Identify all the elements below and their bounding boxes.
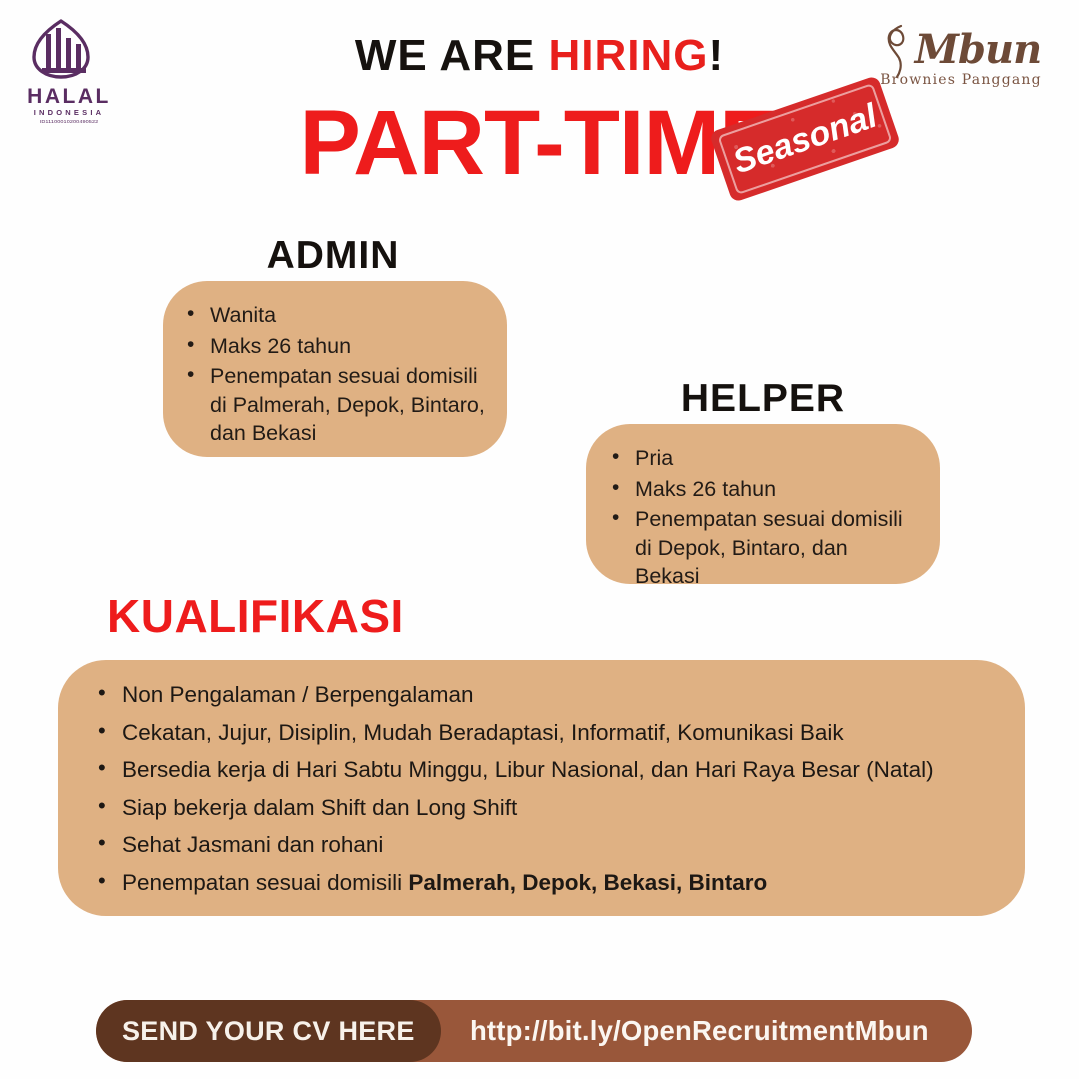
helper-title: HELPER (586, 379, 940, 418)
exclamation-mark: ! (708, 31, 724, 80)
qualifications-list: Non Pengalaman / Berpengalaman Cekatan, … (92, 684, 991, 894)
list-item: Siap bekerja dalam Shift dan Long Shift (92, 797, 991, 820)
admin-requirements-list: Wanita Maks 26 tahun Penempatan sesuai d… (183, 301, 485, 448)
part-time-heading: PART-TIME (0, 95, 1079, 192)
list-item: Penempatan sesuai domisili di Depok, Bin… (608, 505, 918, 591)
list-item: Wanita (183, 301, 485, 330)
we-are-text: WE ARE (355, 31, 549, 80)
send-cv-cta-bar[interactable]: SEND YOUR CV HERE http://bit.ly/OpenRecr… (96, 1000, 972, 1062)
list-item: Pria (608, 444, 918, 473)
helper-requirements-list: Pria Maks 26 tahun Penempatan sesuai dom… (608, 444, 918, 591)
admin-requirements-box: Wanita Maks 26 tahun Penempatan sesuai d… (163, 281, 507, 457)
helper-requirements-box: Pria Maks 26 tahun Penempatan sesuai dom… (586, 424, 940, 584)
list-item: Sehat Jasmani dan rohani (92, 834, 991, 857)
admin-title: ADMIN (163, 236, 503, 275)
send-cv-label: SEND YOUR CV HERE (96, 1000, 441, 1062)
qualifications-box: Non Pengalaman / Berpengalaman Cekatan, … (58, 660, 1025, 916)
list-item: Non Pengalaman / Berpengalaman (92, 684, 991, 707)
application-url-link[interactable]: http://bit.ly/OpenRecruitmentMbun (441, 1015, 972, 1047)
list-item: Cekatan, Jujur, Disiplin, Mudah Beradapt… (92, 722, 991, 745)
we-are-hiring-heading: WE ARE HIRING! (0, 34, 1079, 78)
list-item: Maks 26 tahun (608, 475, 918, 504)
list-item: Bersedia kerja di Hari Sabtu Minggu, Lib… (92, 759, 991, 782)
qualifications-title: KUALIFIKASI (107, 593, 404, 639)
placement-cities: Palmerah, Depok, Bekasi, Bintaro (408, 870, 767, 895)
recruitment-poster: HALAL INDONESIA ID11100010200490522 Mbun… (0, 0, 1079, 1079)
placement-prefix: Penempatan sesuai domisili (122, 870, 408, 895)
list-item: Penempatan sesuai domisili Palmerah, Dep… (92, 872, 991, 895)
list-item: Maks 26 tahun (183, 332, 485, 361)
list-item: Penempatan sesuai domisili di Palmerah, … (183, 362, 485, 448)
hiring-text: HIRING (548, 31, 708, 80)
